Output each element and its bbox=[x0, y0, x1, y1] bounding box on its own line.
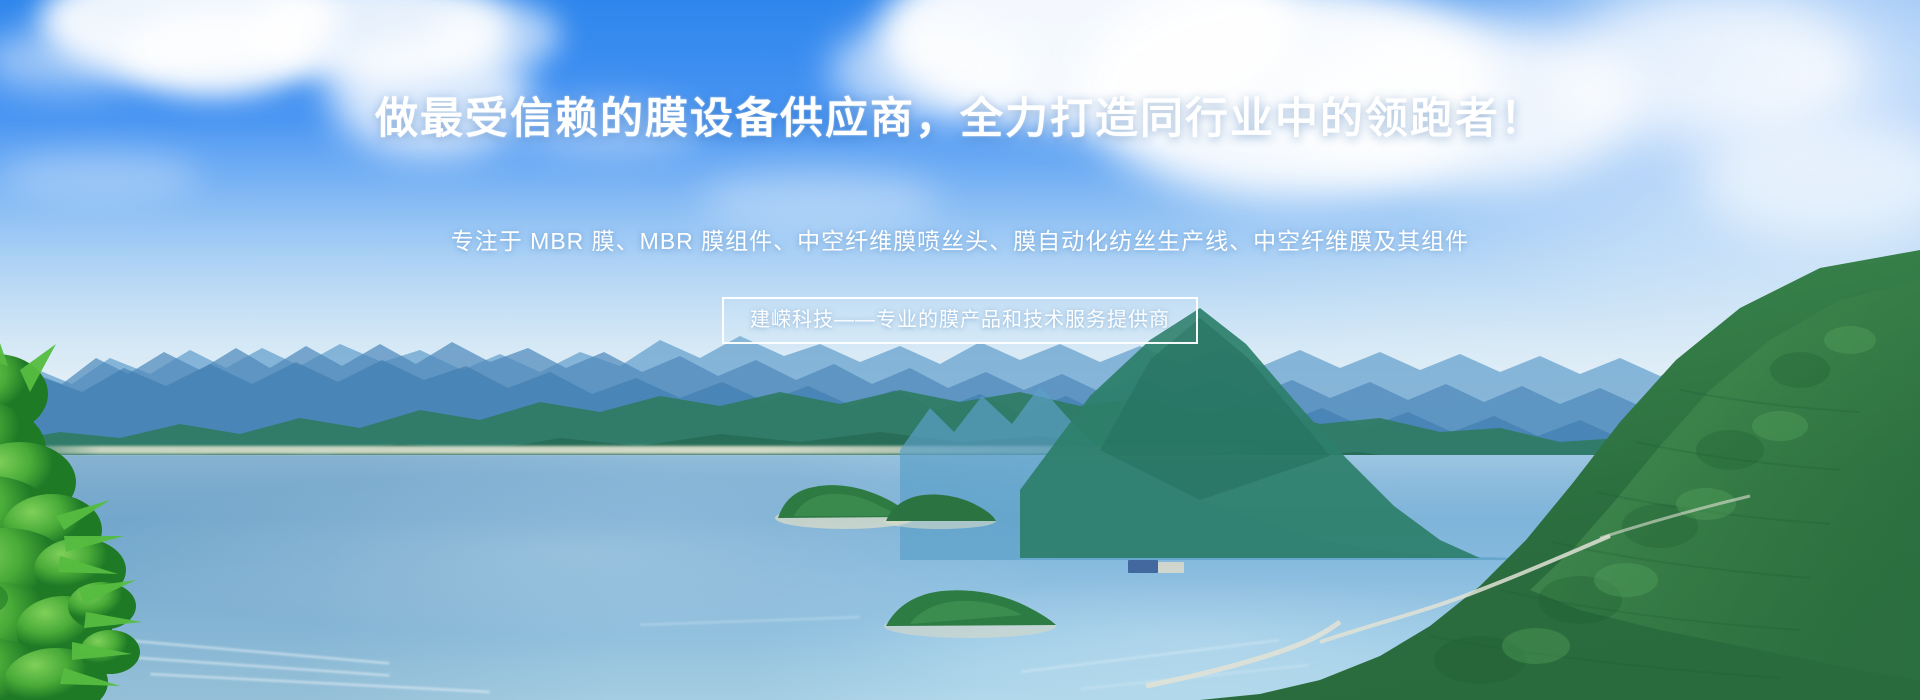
tagline-box: 建嵘科技——专业的膜产品和技术服务提供商 bbox=[722, 297, 1198, 344]
tagline-container: 建嵘科技——专业的膜产品和技术服务提供商 bbox=[0, 297, 1920, 344]
page-title: 做最受信赖的膜设备供应商，全力打造同行业中的领跑者！ bbox=[0, 98, 1920, 141]
banner-subtitle: 专注于 MBR 膜、MBR 膜组件、中空纤维膜喷丝头、膜自动化纺丝生产线、中空纤… bbox=[0, 228, 1920, 256]
hero-banner: 做最受信赖的膜设备供应商，全力打造同行业中的领跑者！ 专注于 MBR 膜、MBR… bbox=[0, 0, 1920, 700]
banner-copy: 做最受信赖的膜设备供应商，全力打造同行业中的领跑者！ 专注于 MBR 膜、MBR… bbox=[0, 0, 1920, 700]
